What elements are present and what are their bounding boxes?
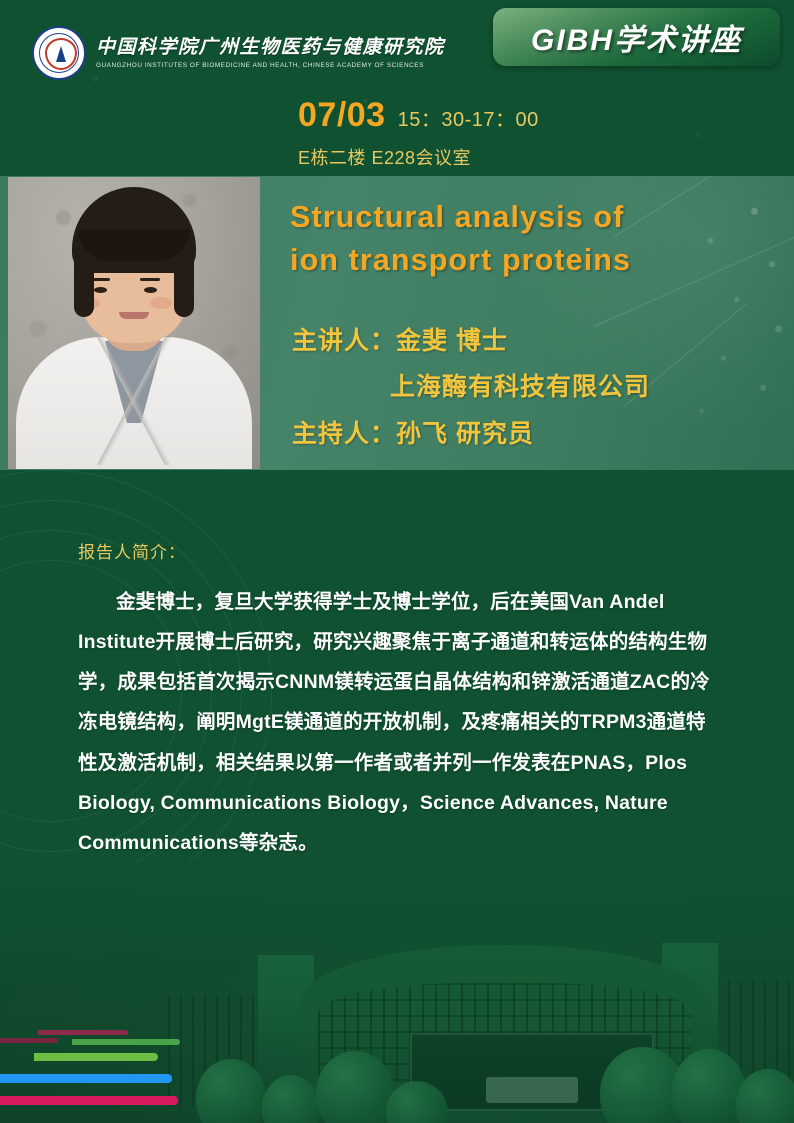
portrait-hair-fringe	[78, 229, 190, 261]
institute-name-en: GUANGZHOU INSTITUTES OF BIOMEDICINE AND …	[96, 62, 445, 69]
speaker-block: 主讲人：金斐 博士 上海酶有科技有限公司 主持人：孙飞 研究员	[292, 318, 772, 457]
bar-green-wide	[34, 1053, 158, 1061]
bar-magenta	[0, 1096, 178, 1105]
gibh-badge-label: GIBH学术讲座	[531, 15, 742, 59]
bio-heading: 报告人简介：	[78, 538, 186, 563]
portrait-eye-right	[144, 287, 157, 293]
talk-title-line2: ion transport proteins	[290, 239, 770, 282]
talk-title-line1: Structural analysis of	[290, 196, 770, 239]
bio-text: 金斐博士，复旦大学获得学士及博士学位，后在美国Van Andel Institu…	[78, 582, 722, 863]
event-date: 07/03	[298, 96, 386, 135]
portrait-eye-left	[94, 287, 107, 293]
event-room: E栋二楼 E228会议室	[298, 144, 471, 170]
gibh-lecture-badge: GIBH学术讲座	[493, 8, 780, 66]
speaker-portrait-photo	[8, 177, 260, 469]
institute-logo-text: 中国科学院广州生物医药与健康研究院 GUANGZHOU INSTITUTES O…	[96, 37, 445, 70]
institute-logo: 中国科学院广州生物医药与健康研究院 GUANGZHOU INSTITUTES O…	[32, 26, 445, 80]
event-datetime-row: 07/03 15：30-17：00	[298, 96, 539, 135]
host-name-line: 主持人：孙飞 研究员	[292, 411, 772, 457]
poster-header: 中国科学院广州生物医药与健康研究院 GUANGZHOU INSTITUTES O…	[0, 0, 794, 92]
talk-title: Structural analysis of ion transport pro…	[290, 196, 770, 283]
lecture-poster: 中国科学院广州生物医药与健康研究院 GUANGZHOU INSTITUTES O…	[0, 0, 794, 1123]
gibh-institute-seal-icon	[32, 26, 86, 80]
speaker-affiliation-line: 上海酶有科技有限公司	[292, 364, 772, 410]
portrait-lab-coat	[16, 337, 252, 469]
bar-green-thin	[72, 1039, 180, 1045]
institute-name-cn: 中国科学院广州生物医药与健康研究院	[96, 37, 445, 59]
campus-building-photo	[0, 863, 794, 1123]
portrait-mouth	[119, 312, 149, 319]
bar-blue	[0, 1074, 172, 1083]
portrait-brow-right	[140, 278, 160, 281]
speaker-name-line: 主讲人：金斐 博士	[292, 318, 772, 364]
decorative-color-bars	[0, 1017, 300, 1109]
bar-maroon	[0, 1038, 58, 1043]
event-time: 15：30-17：00	[398, 103, 539, 132]
seal-petal-shape	[45, 38, 77, 70]
portrait-cheek-right	[150, 297, 172, 309]
bar-darkred	[38, 1030, 128, 1035]
